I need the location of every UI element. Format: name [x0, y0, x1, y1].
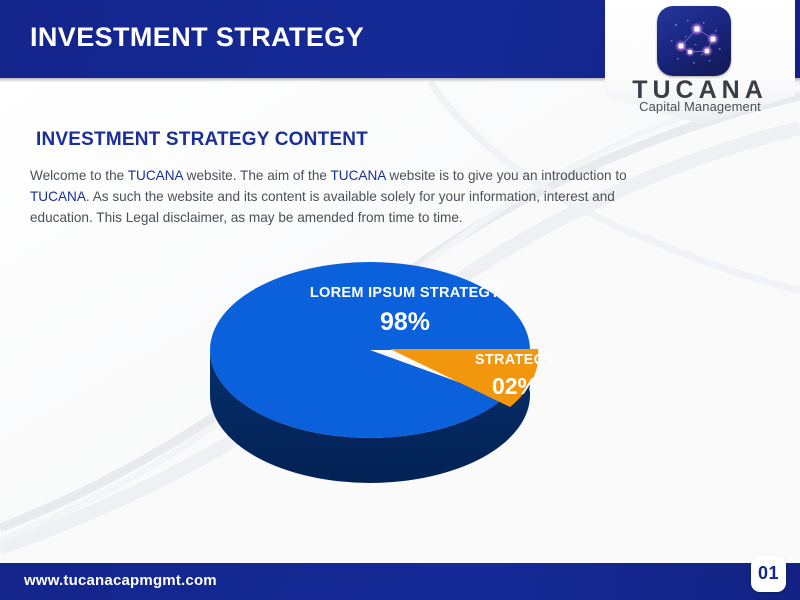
- pie-label-lorem-ipsum-strategy: LOREM IPSUM STRATEGY: [295, 285, 515, 301]
- paragraph-text: website. The aim of the: [183, 168, 331, 183]
- paragraph-text: Welcome to the: [30, 168, 128, 183]
- pie-label-strategy: STRATEGY: [455, 352, 575, 368]
- brand-mention: TUCANA: [30, 189, 86, 204]
- slide-canvas: INVESTMENT STRATEGY: [0, 0, 800, 600]
- paragraph-text: . As such the website and its content is…: [30, 189, 615, 225]
- content-heading: INVESTMENT STRATEGY CONTENT: [36, 129, 368, 151]
- brand-mention: TUCANA: [128, 168, 183, 183]
- page-number-label: 01: [751, 563, 786, 584]
- constellation-icon: [657, 6, 731, 76]
- logo-tagline: Capital Management: [605, 99, 795, 114]
- page-title: INVESTMENT STRATEGY: [30, 22, 364, 53]
- content-paragraph: Welcome to the TUCANA website. The aim o…: [30, 165, 640, 228]
- paragraph-text: website is to give you an introduction t…: [386, 168, 627, 183]
- pie-value-lorem-ipsum-strategy: 98%: [295, 308, 515, 337]
- footer-website-url[interactable]: www.tucanacapmgmt.com: [24, 572, 217, 589]
- pie-value-strategy: 02%: [455, 373, 575, 400]
- brand-mention: TUCANA: [330, 168, 385, 183]
